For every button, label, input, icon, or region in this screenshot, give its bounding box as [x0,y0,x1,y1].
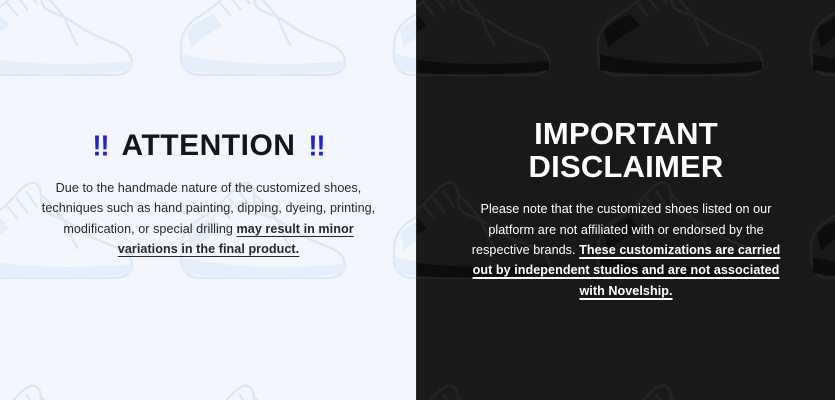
disclaimer-heading-line-2: DISCLAIMER [465,150,787,183]
disclaimer-content: IMPORTANT DISCLAIMER Please note that th… [417,117,835,301]
disclaimer-heading-line-1: IMPORTANT [465,117,787,150]
panel-divider [416,0,417,400]
disclaimer-heading: IMPORTANT DISCLAIMER [465,117,787,183]
attention-panel: !! ATTENTION !! Due to the handmade natu… [0,0,417,400]
attention-heading-text: ATTENTION [122,131,296,161]
attention-heading: !! ATTENTION !! [36,131,381,161]
disclaimer-body: Please note that the customized shoes li… [465,199,787,301]
double-exclamation-left-icon: !! [93,132,109,160]
disclaimer-banner: !! ATTENTION !! Due to the handmade natu… [0,0,835,400]
double-exclamation-right-icon: !! [308,132,324,160]
disclaimer-panel: IMPORTANT DISCLAIMER Please note that th… [417,0,835,400]
attention-body: Due to the handmade nature of the custom… [36,178,381,260]
attention-content: !! ATTENTION !! Due to the handmade natu… [0,131,417,260]
